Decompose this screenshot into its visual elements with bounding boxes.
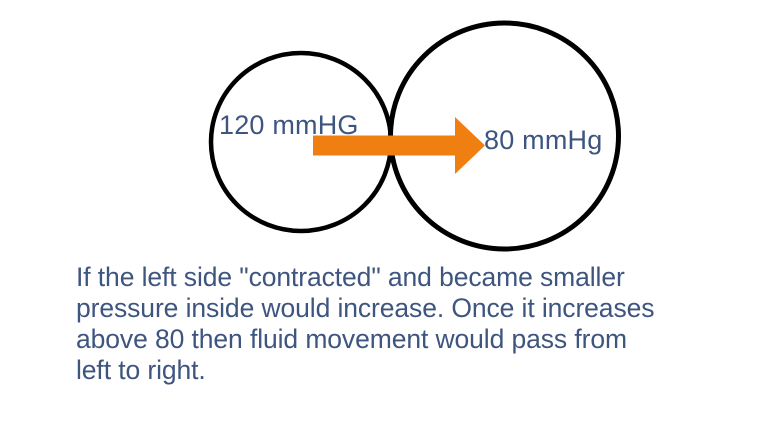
caption-line: left to right. (76, 355, 726, 386)
left-vessel-pressure-label: 120 mmHG (219, 110, 359, 140)
caption-line: If the left side "contracted" and became… (76, 262, 726, 293)
slide-canvas: 120 mmHG 80 mmHg If the left side "contr… (0, 0, 768, 432)
caption-line: above 80 then fluid movement would pass … (76, 324, 726, 355)
caption-text: If the left side "contracted" and became… (76, 262, 726, 386)
right-vessel-pressure-label: 80 mmHg (484, 125, 602, 155)
caption-line: pressure inside would increase. Once it … (76, 293, 726, 324)
